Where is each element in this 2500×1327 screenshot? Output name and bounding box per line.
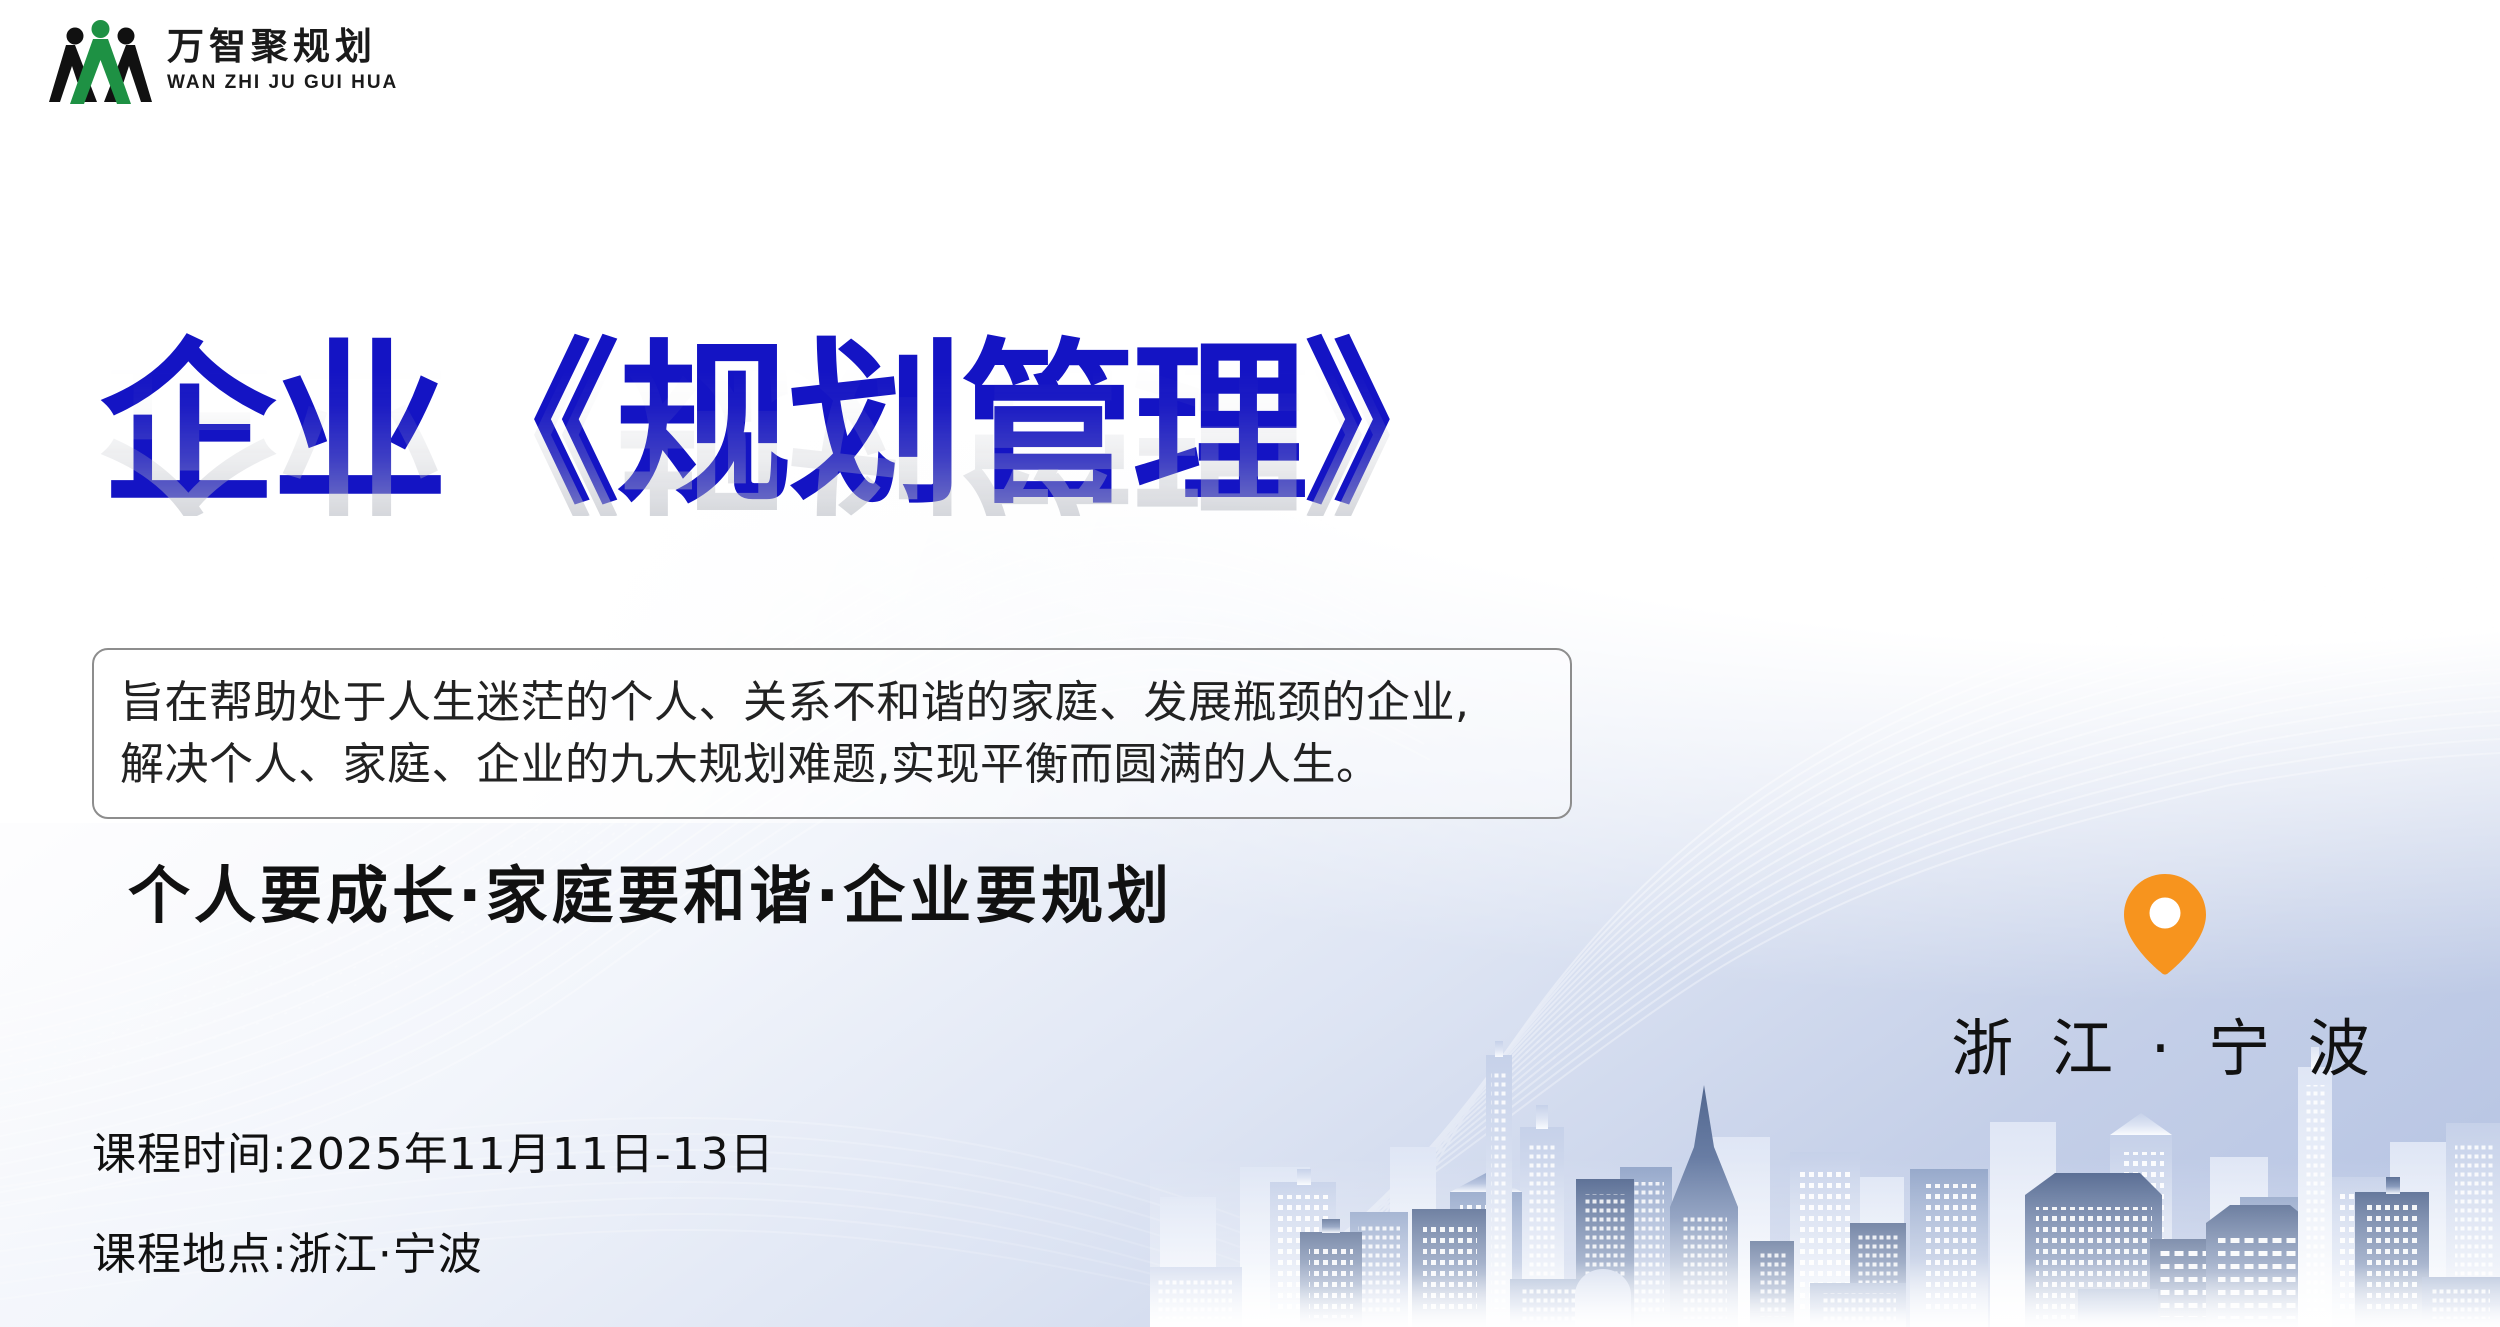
brand-name-cn: 万智聚规划 [167,26,398,67]
page-title-reflection: 企业《规划管理》 [100,340,1476,516]
tagline: 个人要成长·家庭要和谐·企业要规划 [128,845,1173,935]
description-box: 旨在帮助处于人生迷茫的个人、关系不和谐的家庭、发展瓶颈的企业, 解决个人、家庭、… [92,648,1572,819]
brand-wordmark: 万智聚规划 WAN ZHI JU GUI HUA [167,26,398,93]
poster-canvas: 万智聚规划 WAN ZHI JU GUI HUA 企业《规划管理》 企业《规划管… [0,0,2500,1327]
headline-block: 企业《规划管理》 企业《规划管理》 [100,338,1476,692]
map-pin-icon [2117,870,2213,976]
brand-logo[interactable]: 万智聚规划 WAN ZHI JU GUI HUA [48,14,398,106]
description-line-2: 解决个人、家庭、企业的九大规划难题,实现平衡而圆满的人生。 [120,734,1544,796]
course-time: 课程时间:2025年11月11日-13日 [92,1118,775,1182]
description-line-1: 旨在帮助处于人生迷茫的个人、关系不和谐的家庭、发展瓶颈的企业, [120,672,1544,734]
three-people-logo-icon [48,14,153,106]
brand-name-en: WAN ZHI JU GUI HUA [167,72,398,94]
location-label: 浙 江 · 宁 波 [1951,998,2379,1088]
location-badge: 浙 江 · 宁 波 [1955,870,2375,1088]
course-place: 课程地点:浙江·宁波 [92,1218,775,1282]
course-info: 课程时间:2025年11月11日-13日 课程地点:浙江·宁波 [92,1118,775,1282]
